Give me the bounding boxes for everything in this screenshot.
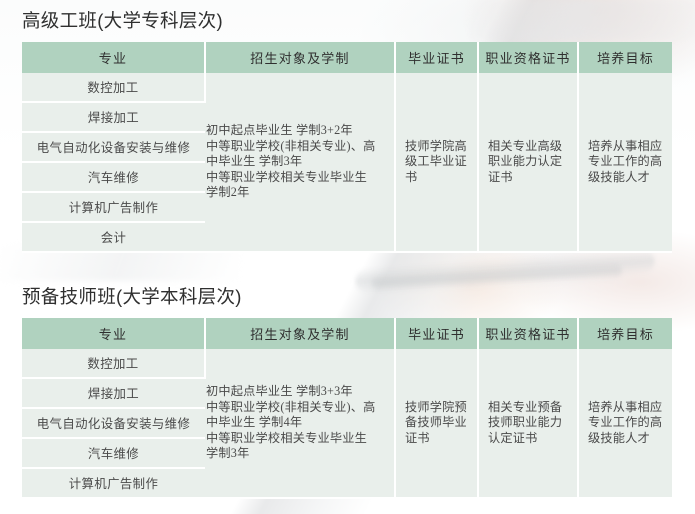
major-cell: 焊接加工 [22, 102, 205, 132]
enrollment-cell: 初中起点毕业生 学制3+3年 中等职业学校(非相关专业)、高 中毕业生 学制4年… [205, 349, 395, 498]
major-cell: 汽车维修 [22, 162, 205, 192]
column-header-diploma: 毕业证书 [395, 318, 478, 349]
enrollment-line: 学制2年 [206, 185, 394, 201]
major-cell: 计算机广告制作 [22, 192, 205, 222]
table-advanced-class: 专业 招生对象及学制 毕业证书 职业资格证书 培养目标 数控加工 初中起点毕业生… [22, 42, 672, 253]
certificate-cell: 相关专业高级职业能力认定证书 [478, 73, 578, 252]
enrollment-line: 中等职业学校(非相关专业)、高 [206, 139, 394, 155]
major-cell: 电气自动化设备安装与维修 [22, 132, 205, 162]
column-header-enrollment: 招生对象及学制 [205, 42, 395, 73]
goal-cell: 培养从事相应专业工作的高级技能人才 [578, 349, 672, 498]
section-advanced-class: 高级工班(大学专科层次) 专业 招生对象及学制 毕业证书 职业资格证书 培养目标… [0, 0, 695, 253]
major-cell: 数控加工 [22, 73, 205, 102]
enrollment-line: 中毕业生 学制3年 [206, 154, 394, 170]
column-header-goal: 培养目标 [578, 42, 672, 73]
enrollment-line: 中等职业学校相关专业毕业生 [206, 170, 394, 186]
goal-cell: 培养从事相应专业工作的高级技能人才 [578, 73, 672, 252]
major-cell: 数控加工 [22, 349, 205, 378]
page-title-advanced: 高级工班(大学专科层次) [0, 0, 695, 42]
column-header-major: 专业 [22, 42, 205, 73]
table-header-row: 专业 招生对象及学制 毕业证书 职业资格证书 培养目标 [22, 318, 672, 349]
enrollment-line: 中等职业学校相关专业毕业生 [206, 431, 394, 447]
diploma-cell: 技师学院预备技师毕业证书 [395, 349, 478, 498]
section-prep-technician-class: 预备技师班(大学本科层次) 专业 招生对象及学制 毕业证书 职业资格证书 培养目… [0, 276, 695, 499]
enrollment-line: 初中起点毕业生 学制3+2年 [206, 123, 394, 139]
enrollment-line: 中等职业学校(非相关专业)、高 [206, 400, 394, 416]
column-header-enrollment: 招生对象及学制 [205, 318, 395, 349]
major-cell: 汽车维修 [22, 438, 205, 468]
major-cell: 焊接加工 [22, 378, 205, 408]
major-cell: 计算机广告制作 [22, 468, 205, 498]
column-header-certificate: 职业资格证书 [478, 318, 578, 349]
column-header-certificate: 职业资格证书 [478, 42, 578, 73]
column-header-diploma: 毕业证书 [395, 42, 478, 73]
diploma-cell: 技师学院高级工毕业证书 [395, 73, 478, 252]
table-prep-technician-class: 专业 招生对象及学制 毕业证书 职业资格证书 培养目标 数控加工 初中起点毕业生… [22, 318, 672, 499]
certificate-cell: 相关专业预备技师职业能力认定证书 [478, 349, 578, 498]
enrollment-line: 初中起点毕业生 学制3+3年 [206, 384, 394, 400]
enrollment-cell: 初中起点毕业生 学制3+2年 中等职业学校(非相关专业)、高 中毕业生 学制3年… [205, 73, 395, 252]
table-row: 数控加工 初中起点毕业生 学制3+3年 中等职业学校(非相关专业)、高 中毕业生… [22, 349, 672, 378]
major-cell: 会计 [22, 222, 205, 252]
column-header-major: 专业 [22, 318, 205, 349]
table-row: 数控加工 初中起点毕业生 学制3+2年 中等职业学校(非相关专业)、高 中毕业生… [22, 73, 672, 102]
column-header-goal: 培养目标 [578, 318, 672, 349]
enrollment-line: 中毕业生 学制4年 [206, 415, 394, 431]
enrollment-line: 学制3年 [206, 446, 394, 462]
page-root: 高级工班(大学专科层次) 专业 招生对象及学制 毕业证书 职业资格证书 培养目标… [0, 0, 695, 514]
page-title-prep: 预备技师班(大学本科层次) [0, 276, 695, 318]
major-cell: 电气自动化设备安装与维修 [22, 408, 205, 438]
table-header-row: 专业 招生对象及学制 毕业证书 职业资格证书 培养目标 [22, 42, 672, 73]
